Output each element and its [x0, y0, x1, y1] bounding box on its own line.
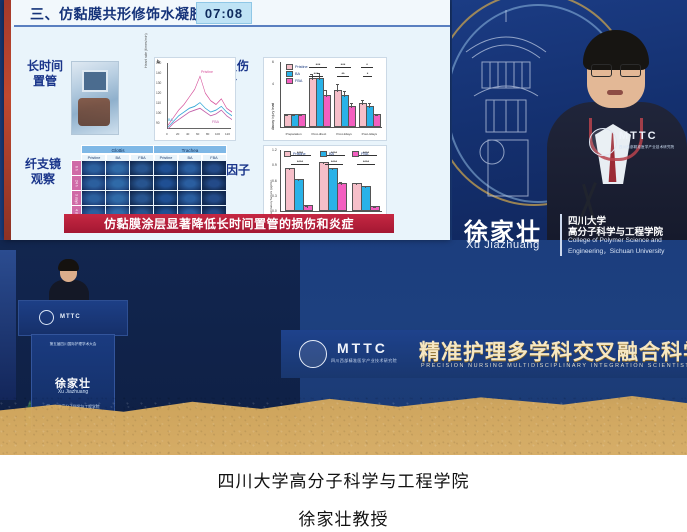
legend-swatch-ba	[286, 71, 293, 77]
error-bar-cap	[373, 207, 376, 208]
line-chart-svg	[168, 63, 232, 129]
error-bar	[351, 104, 352, 108]
error-bar-cap	[350, 103, 353, 104]
significance-line	[291, 164, 309, 165]
error-bar	[376, 115, 377, 116]
speaker-affiliation-en-2: Engineering，Sichuan University	[568, 245, 664, 255]
inset-mttc-logo: MTTC 四川西部精准医学产业技术研究院	[589, 126, 669, 160]
error-bar-cap	[361, 100, 364, 101]
y-tick-label: 1.2	[272, 148, 277, 152]
y-tick-label: 0	[272, 125, 274, 129]
conference-video-frame[interactable]: MTTC 四川西部精准医学产业技术研究院 精准护理多学科交叉融合科学家论坛 PR…	[0, 0, 687, 455]
label-long-intubation-2: 置管	[21, 74, 69, 89]
y-tick-label: 0.3	[272, 194, 277, 198]
slide-conclusion-banner: 仿黏膜涂层显著降低长时间置管的损伤和炎症	[64, 214, 394, 233]
error-bar	[341, 183, 342, 186]
y-tick-label: 6	[272, 60, 274, 64]
bar	[373, 114, 381, 127]
inset-emblem-icon	[589, 128, 617, 156]
line-series-label-ba: BA	[168, 118, 173, 122]
stage-left-panel	[0, 250, 16, 400]
label-long-intubation: 长时间	[21, 59, 69, 74]
bar	[348, 106, 356, 128]
error-bar	[289, 169, 290, 171]
error-bar-cap	[355, 183, 358, 184]
mttc-logo-subtitle: 四川西部精准医学产业技术研究院	[331, 358, 397, 364]
speaker-affiliation-en-1: College of Polymer Science and	[568, 237, 662, 244]
y-tick-label: 0.0	[272, 209, 277, 213]
inflammatory-factors-bar-chart: Inflammatory factors (pg/mL) 0.00.30.60.…	[263, 145, 387, 225]
error-bar-cap	[296, 179, 299, 180]
error-bar	[307, 207, 308, 208]
error-bar-cap	[324, 90, 327, 91]
error-bar	[362, 100, 363, 105]
significance-line	[363, 76, 372, 77]
x-tick-label: Post-direct	[306, 132, 331, 136]
y-tick-label: 0.6	[272, 179, 277, 183]
legend2-label-pristine: Pristine	[293, 152, 306, 156]
significance-line	[335, 67, 351, 68]
inset-mttc-subtitle: 四川西部精准医学产业技术研究院	[619, 144, 674, 149]
caption-line-2: 徐家壮教授	[0, 505, 687, 530]
error-bar-cap	[299, 115, 302, 116]
error-bar-cap	[339, 182, 342, 183]
caption-line-1: 四川大学高分子科学与工程学院	[0, 467, 687, 492]
error-bar-cap	[375, 115, 378, 116]
error-bar-cap	[292, 115, 295, 116]
legend-label-ba: BA	[295, 72, 300, 76]
presentation-slide[interactable]: 三、仿黏膜共形修饰水凝胶涂层 07:08 长时间 置管 纤支镜 观察 气道损伤 …	[4, 0, 450, 240]
slide-left-accent	[4, 0, 11, 240]
podium-emblem-icon	[39, 310, 54, 325]
y-tick-label: 4	[272, 82, 274, 86]
stage-wall-banner: MTTC 四川西部精准医学产业技术研究院 精准护理多学科交叉融合科学家论坛 PR…	[281, 330, 687, 378]
legend2-swatch-pristine	[284, 151, 291, 157]
error-bar	[332, 169, 333, 170]
legend2-swatch-fba	[352, 151, 359, 157]
podium-top: MTTC	[18, 300, 128, 336]
legend-swatch-pristine	[286, 64, 293, 70]
error-bar	[344, 91, 345, 96]
screenshot-root: MTTC 四川西部精准医学产业技术研究院 精准护理多学科交叉融合科学家论坛 PR…	[0, 0, 687, 532]
presentation-timer: 07:08	[196, 2, 252, 24]
glasses-icon	[591, 64, 641, 75]
error-bar	[323, 162, 324, 164]
significance-line	[309, 67, 327, 68]
significance-line	[337, 76, 349, 77]
error-bar-cap	[368, 103, 371, 104]
bar	[298, 114, 306, 127]
legend2-swatch-ba	[320, 151, 327, 157]
hospital-emblem-icon	[299, 340, 327, 368]
podium-header-text: 第五届四川国际护理学术大会	[32, 341, 114, 347]
speaker-name-block: 徐家壮 Xu Jiazhuang 四川大学 高分子科学与工程学院 College…	[452, 212, 687, 260]
label-bronchoscopy-2: 观察	[19, 172, 67, 187]
forum-title-en: PRECISION NURSING MULTIDISCIPLINARY INTE…	[421, 363, 687, 369]
error-bar-cap	[336, 84, 339, 85]
error-bar	[287, 115, 288, 116]
significance-line	[357, 164, 375, 165]
legend-swatch-fba	[286, 78, 293, 84]
error-bar-cap	[321, 162, 324, 163]
label-bronchoscopy: 纤支镜	[19, 157, 67, 172]
heart-rate-line-chart: b Heart rate (times/min) Time (s) 150 14…	[154, 57, 236, 141]
slide-content: 长时间 置管 纤支镜 观察 气道损伤 评分 炎症因子 b Heart rate …	[11, 27, 450, 240]
line-series-label-fba: FBA	[212, 120, 219, 124]
bar2-plot-area: 0.00.30.60.91.2TNF-αIL-1βIL-6***********…	[280, 150, 382, 212]
figure-caption: 四川大学高分子科学与工程学院 徐家壮教授	[0, 455, 687, 532]
legend2-label-fba: FBA	[361, 152, 368, 156]
error-bar-cap	[330, 168, 333, 169]
error-bar	[337, 85, 338, 93]
y-tick-label: 2	[272, 103, 274, 107]
error-bar-cap	[287, 168, 290, 169]
line-chart-plot-area	[167, 63, 231, 129]
line-series-label-pristine: Pristine	[201, 70, 213, 74]
name-divider	[560, 214, 562, 256]
x-tick-label: Post-4days	[357, 132, 382, 136]
airway-injury-bar-chart: Airway injury level 0246PreparationPost-…	[263, 57, 387, 141]
podium-logo-text: MTTC	[60, 314, 81, 320]
legend-label-pristine: Pristine	[295, 65, 308, 69]
stage-sand-texture	[0, 395, 687, 455]
significance-line	[325, 164, 343, 165]
legend-label-fba: FBA	[295, 79, 302, 83]
error-bar	[374, 207, 375, 208]
x-tick-label: Post-2days	[332, 132, 357, 136]
error-bar	[294, 115, 295, 116]
error-bar	[365, 186, 366, 188]
error-bar-cap	[343, 91, 346, 92]
intubated-patient-photo	[71, 61, 119, 135]
bronchoscopy-image-grid: Glottis Trachea Pristine BA FBA Pristine…	[71, 145, 234, 223]
error-bar	[356, 184, 357, 185]
line-chart-ylabel: Heart rate (times/min)	[144, 8, 148, 68]
speaker-mouth	[607, 90, 623, 95]
error-bar	[369, 103, 370, 107]
forum-title-cn: 精准护理多学科交叉融合科学家论坛	[419, 336, 687, 366]
bar	[337, 183, 347, 211]
speaker-inset-video[interactable]: MTTC 四川西部精准医学产业技术研究院	[452, 0, 687, 240]
bar	[323, 95, 331, 127]
legend2-label-ba: BA	[329, 152, 334, 156]
y-tick-label: 0.9	[272, 163, 277, 167]
speaker-name-en: Xu Jiazhuang	[466, 239, 540, 251]
mttc-logo-text: MTTC	[337, 340, 388, 356]
significance-line	[361, 67, 373, 68]
error-bar	[326, 90, 327, 97]
error-bar-cap	[305, 206, 308, 207]
podium-logo-row: MTTC	[39, 309, 107, 325]
error-bar-cap	[364, 186, 367, 187]
error-bar	[301, 115, 302, 116]
error-bar	[298, 180, 299, 181]
x-tick-label: Preparation	[281, 132, 306, 136]
inset-mttc-text: MTTC	[619, 130, 658, 142]
error-bar-cap	[285, 115, 288, 116]
speaker-hair	[58, 259, 79, 271]
speaker-affiliation-cn-2: 高分子科学与工程学院	[568, 224, 663, 238]
significance-line	[309, 76, 323, 77]
